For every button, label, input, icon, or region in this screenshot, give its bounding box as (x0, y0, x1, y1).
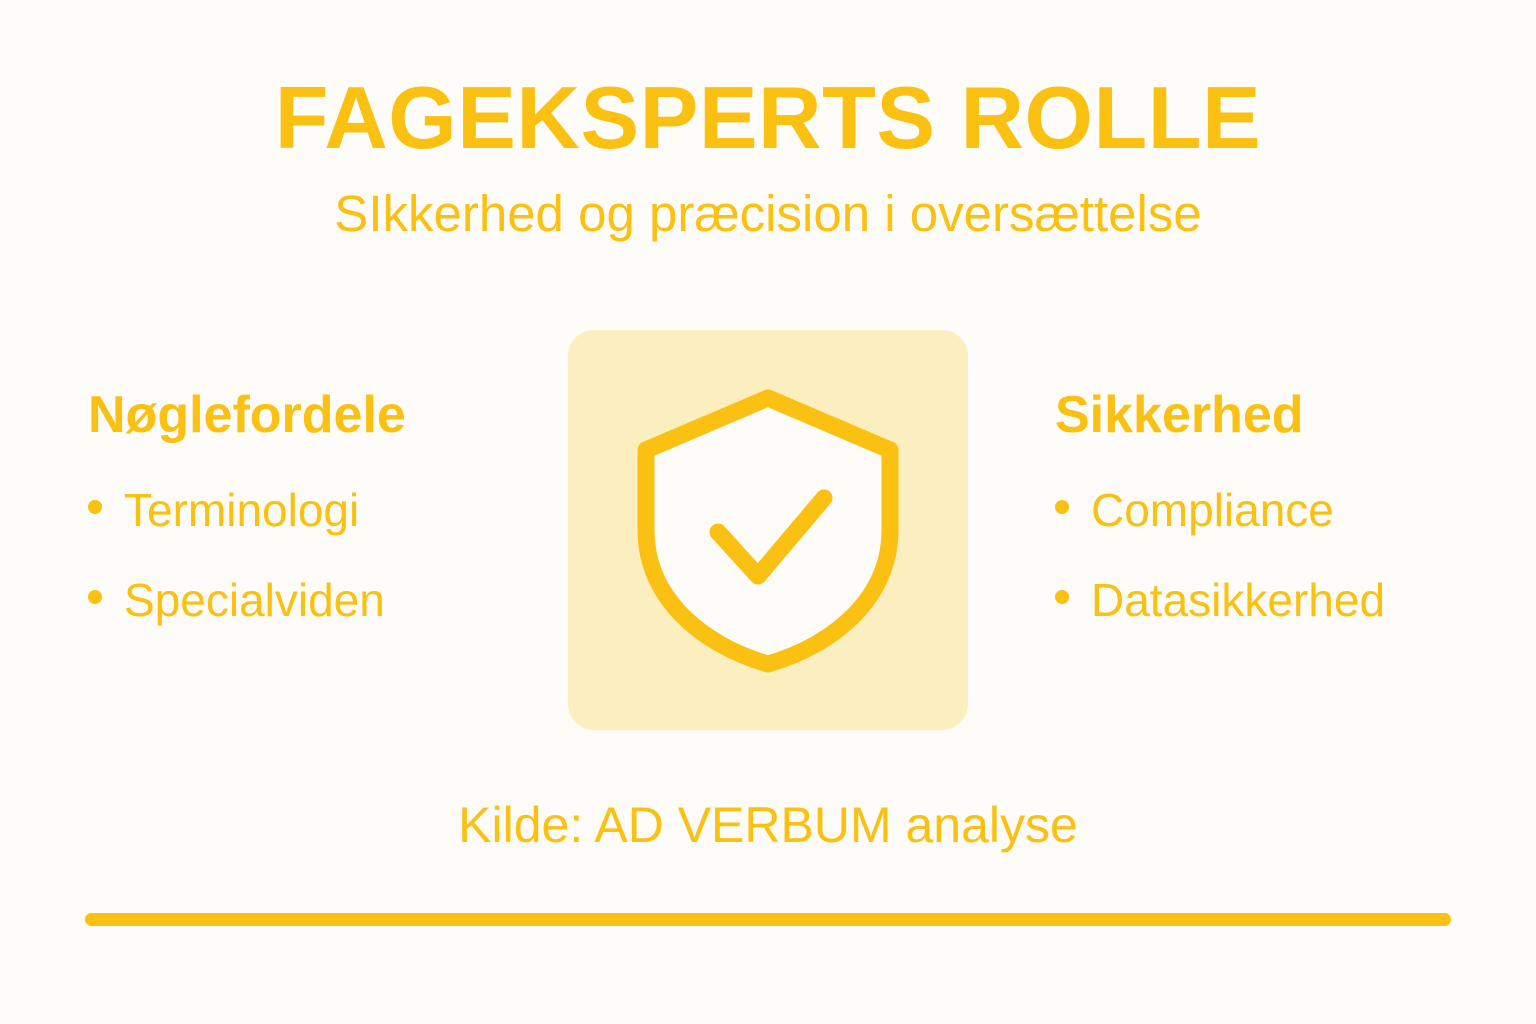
list-item: Datasikkerhed (1055, 577, 1495, 623)
bottom-divider (85, 913, 1451, 926)
bullet-dot-icon (88, 590, 102, 604)
list-item-label: Compliance (1091, 487, 1334, 533)
shield-outline (646, 398, 890, 664)
bullet-dot-icon (1055, 500, 1069, 514)
shield-icon-card (568, 330, 968, 730)
list-item: Compliance (1055, 487, 1495, 533)
column-left-heading: Nøglefordele (88, 388, 518, 443)
bullet-dot-icon (88, 500, 102, 514)
bullet-dot-icon (1055, 590, 1069, 604)
list-item-label: Datasikkerhed (1091, 577, 1385, 623)
source-attribution: Kilde: AD VERBUM analyse (0, 800, 1536, 850)
column-left-bullet-list: Terminologi Specialviden (88, 487, 518, 623)
list-item-label: Terminologi (124, 487, 359, 533)
page-title: FAGEKSPERTS ROLLE (0, 74, 1536, 162)
list-item: Terminologi (88, 487, 518, 533)
header: FAGEKSPERTS ROLLE SIkkerhed og præcision… (0, 74, 1536, 239)
list-item-label: Specialviden (124, 577, 385, 623)
page-subtitle: SIkkerhed og præcision i oversættelse (0, 188, 1536, 239)
column-right-heading: Sikkerhed (1055, 388, 1495, 443)
infographic-slide: FAGEKSPERTS ROLLE SIkkerhed og præcision… (0, 0, 1536, 1024)
list-item: Specialviden (88, 577, 518, 623)
column-left: Nøglefordele Terminologi Specialviden (88, 388, 518, 667)
column-right-bullet-list: Compliance Datasikkerhed (1055, 487, 1495, 623)
shield-check-icon (618, 380, 918, 680)
column-right: Sikkerhed Compliance Datasikkerhed (1055, 388, 1495, 667)
